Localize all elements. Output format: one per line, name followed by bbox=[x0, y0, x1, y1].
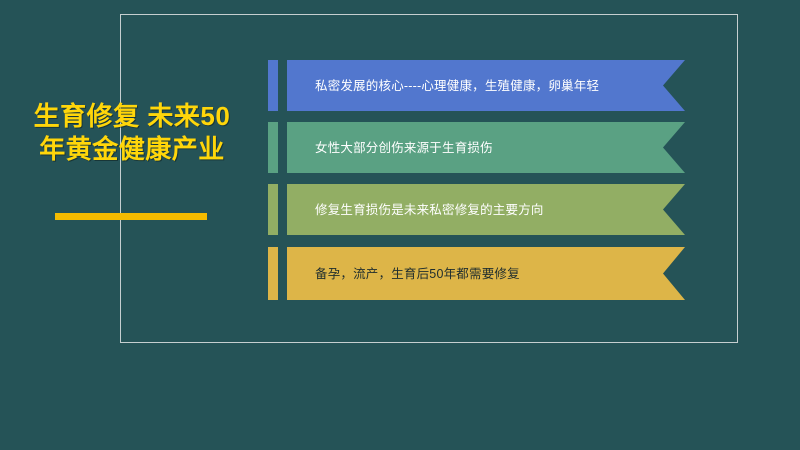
ribbon-label: 修复生育损伤是未来私密修复的主要方向 bbox=[287, 201, 544, 219]
ribbon-body[interactable]: 备孕，流产，生育后50年都需要修复 bbox=[287, 247, 685, 300]
title-block: 生育修复 未来50年黄金健康产业 bbox=[22, 100, 242, 166]
ribbon-body[interactable]: 私密发展的核心----心理健康，生殖健康，卵巢年轻 bbox=[287, 60, 685, 111]
ribbon-label: 女性大部分创伤来源于生育损伤 bbox=[287, 139, 493, 157]
page-title: 生育修复 未来50年黄金健康产业 bbox=[22, 100, 242, 166]
title-underline bbox=[55, 213, 207, 220]
ribbon-left-tab bbox=[268, 184, 278, 235]
ribbon-body[interactable]: 修复生育损伤是未来私密修复的主要方向 bbox=[287, 184, 685, 235]
ribbon-body[interactable]: 女性大部分创伤来源于生育损伤 bbox=[287, 122, 685, 173]
ribbon-left-tab bbox=[268, 247, 278, 300]
ribbon-left-tab bbox=[268, 60, 278, 111]
ribbon-label: 备孕，流产，生育后50年都需要修复 bbox=[287, 265, 520, 283]
ribbon-label: 私密发展的核心----心理健康，生殖健康，卵巢年轻 bbox=[287, 77, 599, 95]
slide-canvas: 生育修复 未来50年黄金健康产业 私密发展的核心----心理健康，生殖健康，卵巢… bbox=[0, 0, 800, 450]
ribbon-left-tab bbox=[268, 122, 278, 173]
